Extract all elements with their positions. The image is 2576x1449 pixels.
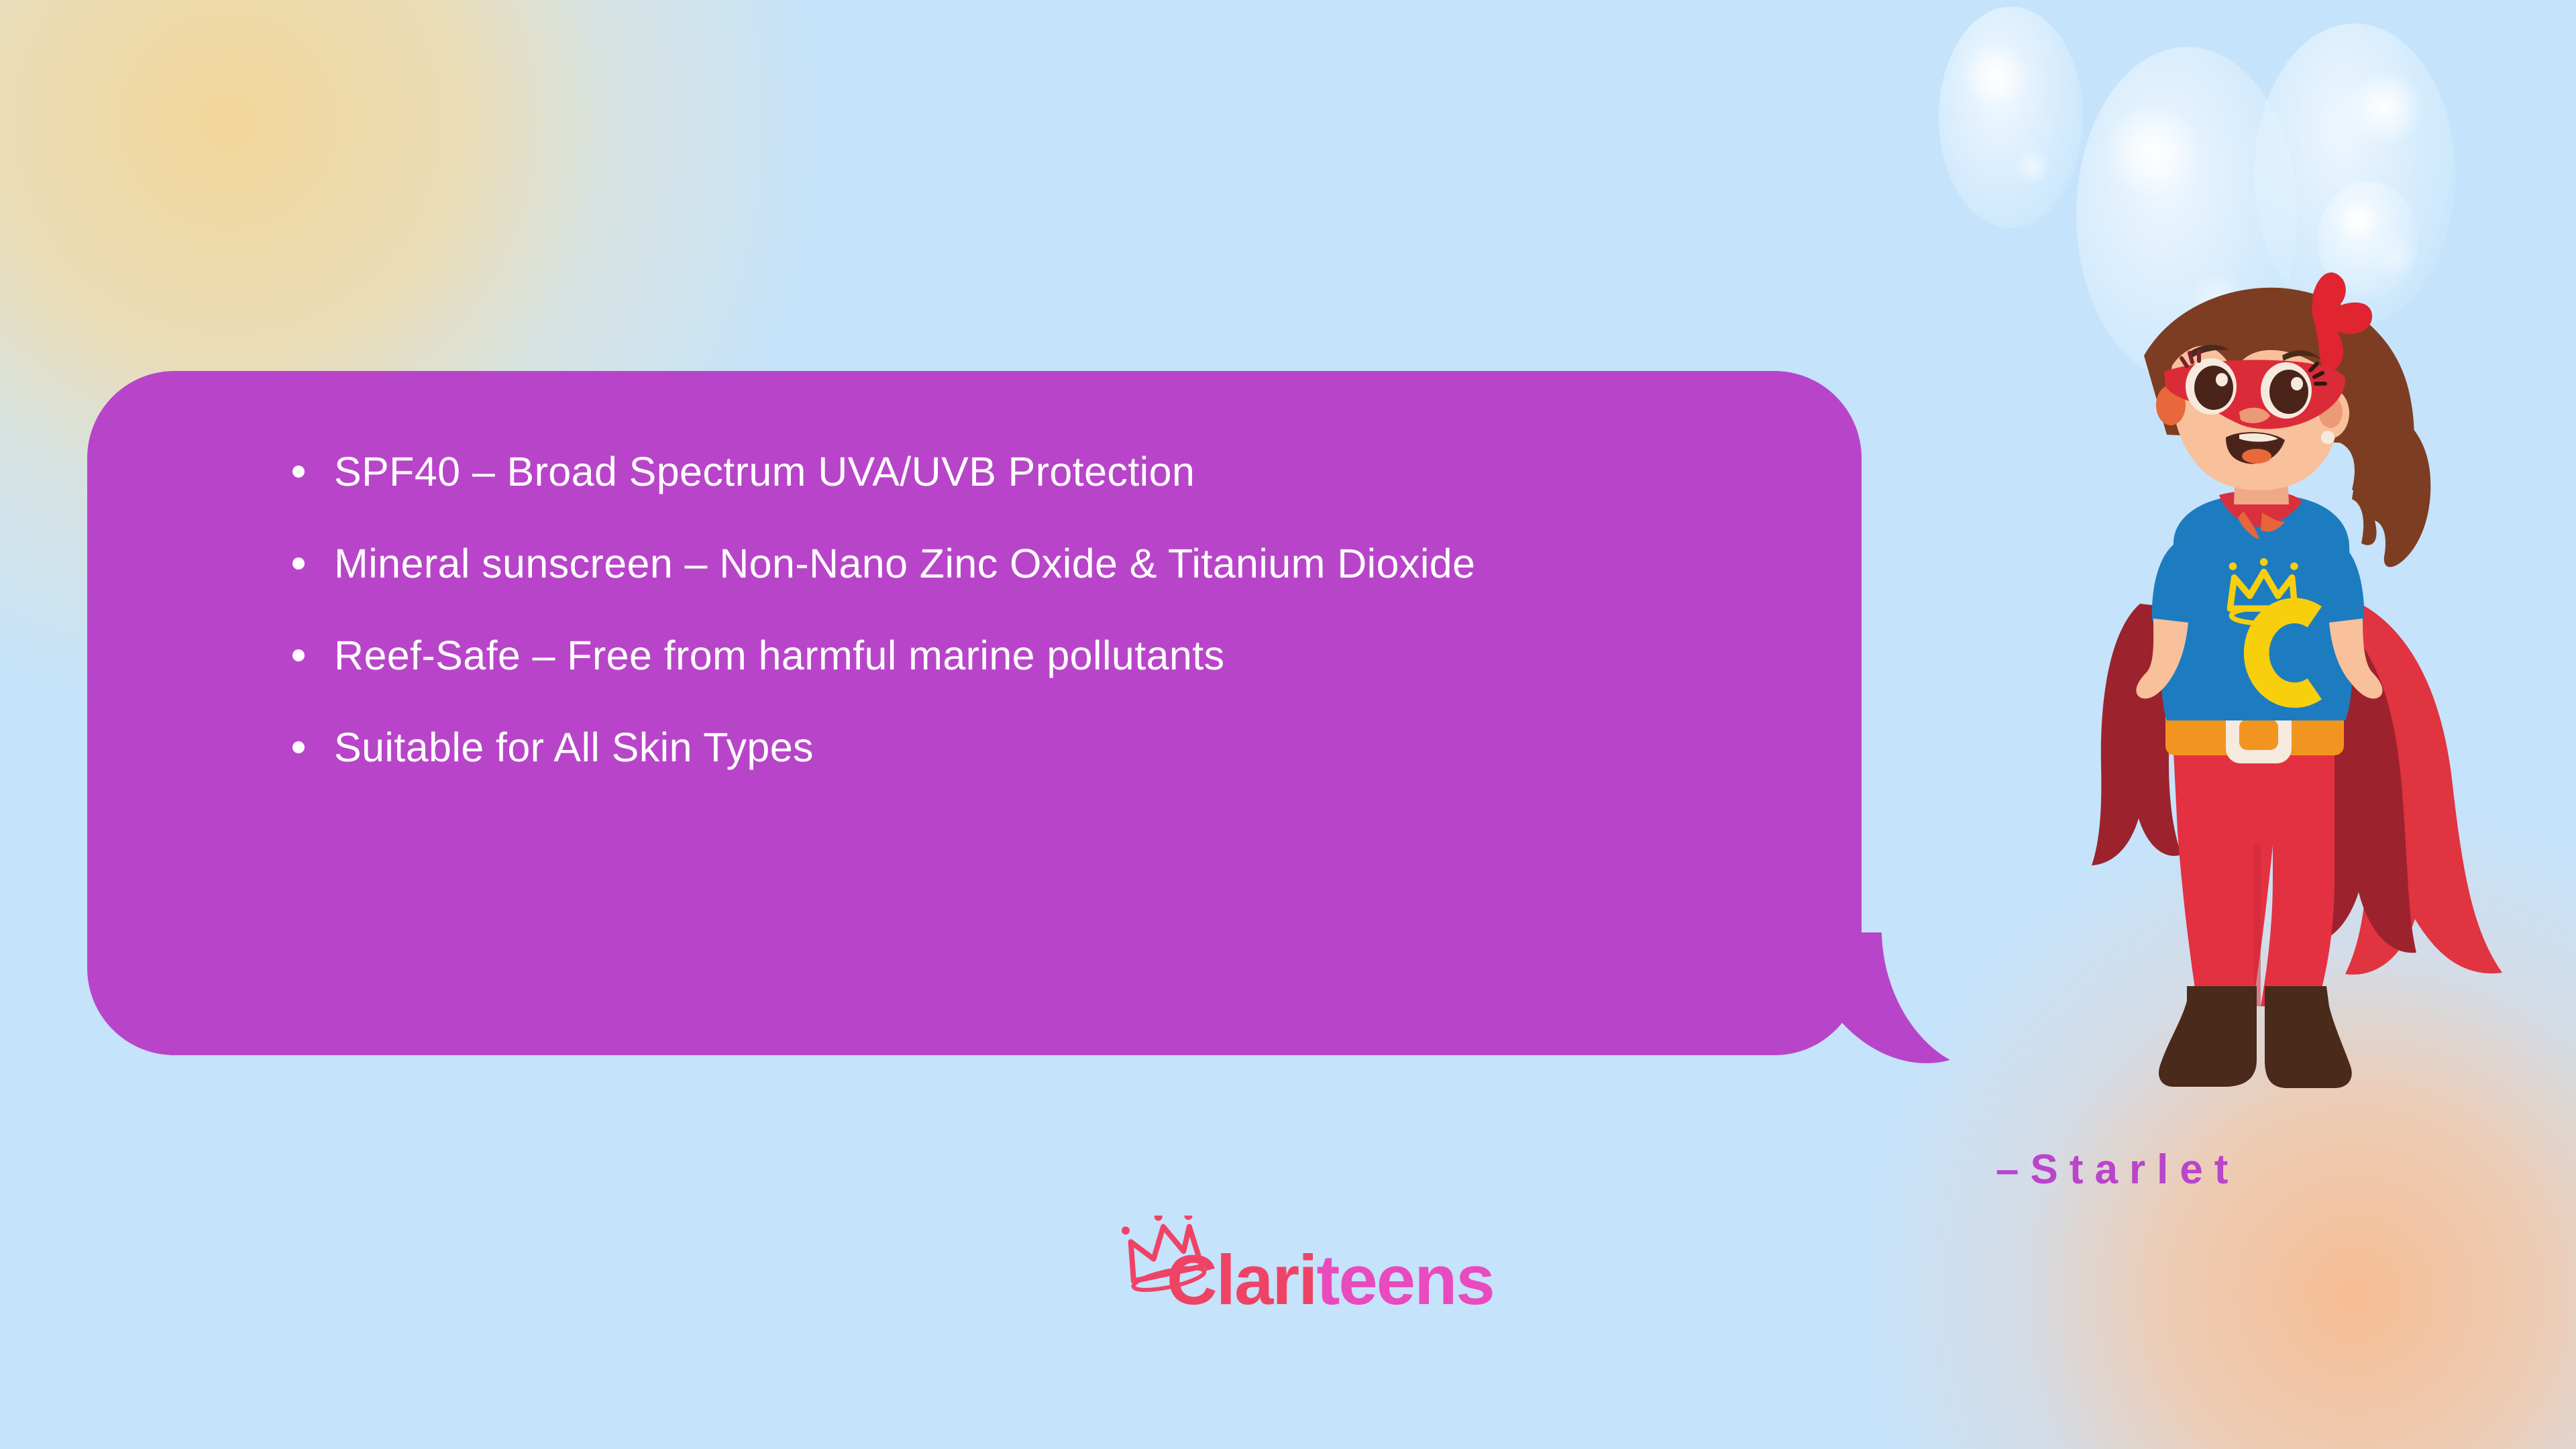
starlet-caption: –Starlet [1996,1146,2239,1193]
tongue [2242,449,2271,464]
clariteens-logo: Clariteens [1117,1216,1466,1350]
bullet-dot-icon [292,466,305,478]
boot-right [2265,986,2352,1088]
brand-name-part-one: Clari [1167,1241,1316,1320]
boot-left [2159,986,2257,1087]
features-speech-bubble: SPF40 – Broad Spectrum UVA/UVB Protectio… [87,371,1862,1055]
bullet-dot-icon [292,557,305,570]
list-item-label: Suitable for All Skin Types [334,724,814,770]
superhero-girl-illustration [1972,255,2536,1127]
brand-name-part-two: teens [1316,1241,1493,1320]
ponytail [2352,404,2430,567]
promo-graphic-canvas: SPF40 – Broad Spectrum UVA/UVB Protectio… [0,0,2576,1449]
list-item: Suitable for All Skin Types [288,702,1774,794]
list-item-label: SPF40 – Broad Spectrum UVA/UVB Protectio… [334,449,1195,494]
earring [2321,431,2334,444]
feature-bullet-list: SPF40 – Broad Spectrum UVA/UVB Protectio… [288,426,1774,794]
decorative-bubble-1 [1939,7,2083,228]
list-item: Mineral sunscreen – Non-Nano Zinc Oxide … [288,518,1774,610]
bullet-dot-icon [292,649,305,661]
bullet-dot-icon [292,741,305,753]
list-item: Reef-Safe – Free from harmful marine pol… [288,610,1774,702]
list-item-label: Reef-Safe – Free from harmful marine pol… [334,633,1224,678]
brand-wordmark: Clariteens [1167,1245,1494,1316]
list-item-label: Mineral sunscreen – Non-Nano Zinc Oxide … [334,541,1475,586]
list-item: SPF40 – Broad Spectrum UVA/UVB Protectio… [288,426,1774,518]
